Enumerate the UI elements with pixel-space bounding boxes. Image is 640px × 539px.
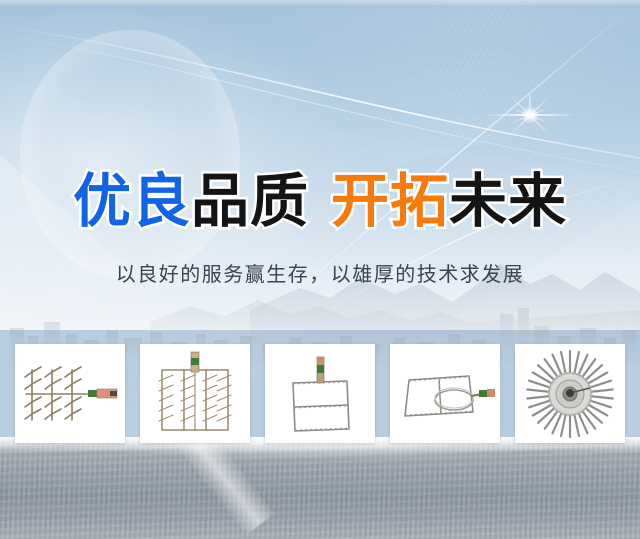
starburst-disc-fixture-icon [524, 348, 616, 440]
product-card-4[interactable] [390, 344, 500, 443]
product-card-5[interactable] [515, 344, 625, 443]
lens-flare-star-icon [530, 115, 531, 116]
frame-with-ring-fixture-icon [395, 358, 495, 430]
subtitle: 以良好的服务赢生存，以雄厚的技术求发展 [0, 258, 640, 287]
panel-frame-fixture-icon [279, 351, 361, 437]
product-card-1[interactable] [15, 344, 125, 443]
headline: 优良品质开拓未来 [0, 170, 640, 232]
headline-part-2: 品质 [191, 170, 309, 232]
comb-type-fixture-icon [18, 354, 122, 434]
headline-part-4: 未来 [449, 170, 567, 232]
headline-part-1: 优良 [73, 170, 191, 232]
headline-part-3: 开拓 [331, 170, 449, 232]
product-card-row [15, 344, 625, 443]
ground-pavement [0, 437, 640, 539]
product-card-3[interactable] [265, 344, 375, 443]
spike-rack-fixture-icon [152, 350, 238, 438]
promo-banner: 优良品质开拓未来 以良好的服务赢生存，以雄厚的技术求发展 [0, 0, 640, 539]
product-card-2[interactable] [140, 344, 250, 443]
